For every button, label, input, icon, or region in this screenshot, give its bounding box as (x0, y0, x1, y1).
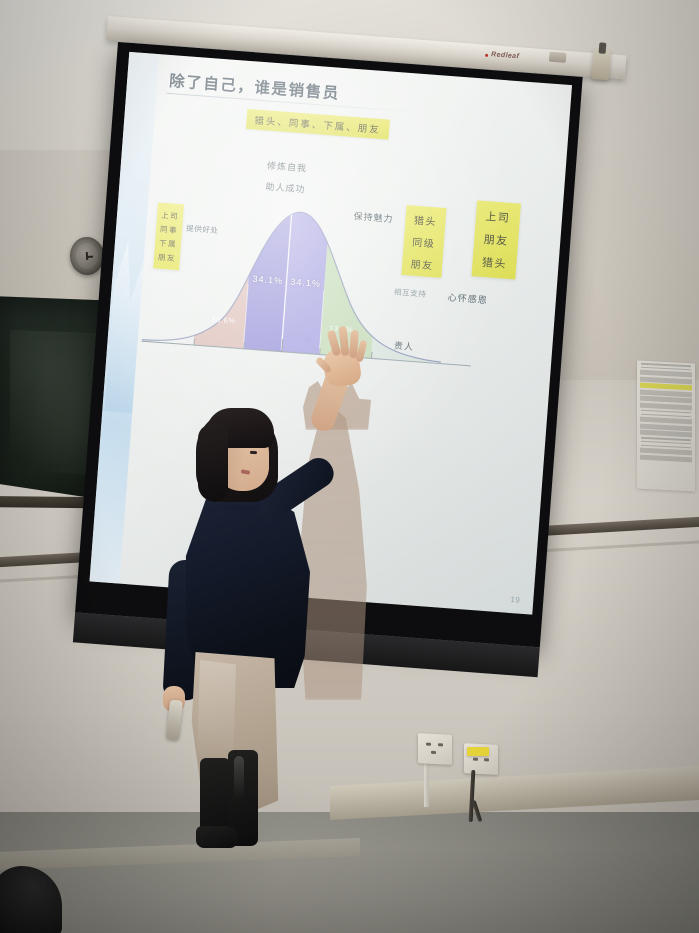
curve-band-far-right (371, 199, 443, 363)
slide-page-number: 19 (510, 595, 521, 605)
housing-knob-icon (549, 52, 567, 63)
slide-highlight-subtitle: 猎头、同事、下属、朋友 (246, 109, 390, 140)
screen-mount-bolt (599, 42, 607, 53)
power-outlet-left[interactable] (418, 733, 452, 765)
floor-shading (0, 812, 699, 933)
wall-schedule-poster (637, 360, 695, 491)
chart-value-left-outer: 13.6% (211, 315, 236, 326)
chart-value-right-outer: 13.6% (329, 324, 354, 335)
screen-mount-bracket-right (592, 49, 611, 80)
projector-brand-label: Redleaf (491, 51, 520, 60)
classroom-photo: Redleaf 除了自己，谁是销售员 猎头、同事、下属、朋友 修炼自我 助人成功… (0, 0, 699, 933)
ybox-right-line-1: 朋友 (483, 231, 509, 249)
projection-screen-frame: 除了自己，谁是销售员 猎头、同事、下属、朋友 修炼自我 助人成功 保持魅力 提供… (75, 42, 583, 647)
clock-minute-hand (86, 256, 93, 258)
ybox-right-line-0: 上司 (485, 208, 511, 226)
ybox-right-line-2: 猎头 (481, 254, 507, 272)
slide: 除了自己，谁是销售员 猎头、同事、下属、朋友 修炼自我 助人成功 保持魅力 提供… (89, 52, 572, 615)
projection-screen: 除了自己，谁是销售员 猎头、同事、下属、朋友 修炼自我 助人成功 保持魅力 提供… (89, 52, 572, 615)
normal-distribution-chart: 34.1% 34.1% 13.6% 13.6% (142, 182, 483, 366)
outlet-warning-tag (467, 747, 489, 756)
label-self-cultivation: 修炼自我 (267, 159, 308, 175)
clock-face (75, 242, 98, 269)
bell-curve-svg (142, 182, 483, 366)
